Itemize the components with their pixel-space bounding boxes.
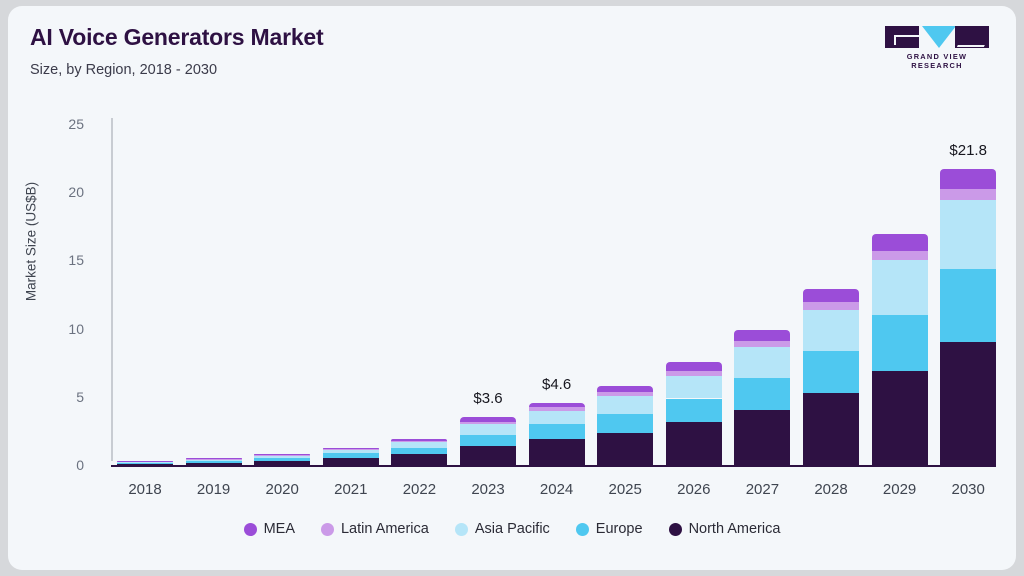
bar-segment-north-america[interactable]	[323, 458, 379, 466]
chart-legend: MEALatin AmericaAsia PacificEuropeNorth …	[8, 521, 1016, 537]
bar-2018[interactable]	[117, 7, 173, 466]
bar-segment-north-america[interactable]	[803, 393, 859, 466]
bar-segment-north-america[interactable]	[666, 422, 722, 466]
bar-segment-europe[interactable]	[734, 378, 790, 410]
bar-segment-europe[interactable]	[254, 458, 310, 461]
bar-2026[interactable]	[666, 7, 722, 466]
legend-item-north-america[interactable]: North America	[669, 521, 781, 537]
legend-swatch-icon	[321, 523, 334, 536]
bar-segment-north-america[interactable]	[872, 371, 928, 466]
legend-label: Asia Pacific	[475, 521, 550, 537]
bar-segment-north-america[interactable]	[460, 446, 516, 466]
legend-item-mea[interactable]: MEA	[244, 521, 295, 537]
bar-segment-mea[interactable]	[940, 169, 996, 189]
legend-swatch-icon	[669, 523, 682, 536]
bar-segment-mea[interactable]	[734, 330, 790, 341]
bar-segment-europe[interactable]	[460, 435, 516, 447]
chart-card: AI Voice Generators Market Size, by Regi…	[8, 6, 1016, 570]
bar-segment-north-america[interactable]	[734, 410, 790, 466]
bar-segment-asia-pacific[interactable]	[529, 411, 585, 425]
bar-segment-mea[interactable]	[254, 454, 310, 456]
bar-segment-latin-america[interactable]	[666, 371, 722, 376]
bar-segment-europe[interactable]	[391, 448, 447, 455]
bar-segment-europe[interactable]	[872, 315, 928, 371]
bar-segment-latin-america[interactable]	[597, 392, 653, 396]
data-label-2030: $21.8	[923, 142, 1013, 159]
legend-swatch-icon	[576, 523, 589, 536]
stacked-bar-chart: Market Size (US$B) 0510152025 2018201920…	[8, 6, 1016, 570]
legend-swatch-icon	[455, 523, 468, 536]
bar-segment-europe[interactable]	[323, 453, 379, 457]
bar-segment-asia-pacific[interactable]	[940, 200, 996, 269]
bar-segment-asia-pacific[interactable]	[323, 450, 379, 454]
bar-2024[interactable]	[529, 7, 585, 466]
bar-segment-north-america[interactable]	[186, 463, 242, 466]
bar-2028[interactable]	[803, 7, 859, 466]
bar-2030[interactable]	[940, 7, 996, 466]
bar-2029[interactable]	[872, 7, 928, 466]
bar-segment-north-america[interactable]	[597, 433, 653, 466]
bar-segment-mea[interactable]	[666, 362, 722, 370]
data-label-2024: $4.6	[512, 376, 602, 393]
legend-label: North America	[689, 521, 781, 537]
bar-2021[interactable]	[323, 7, 379, 466]
bar-segment-mea[interactable]	[323, 448, 379, 450]
bar-segment-north-america[interactable]	[117, 464, 173, 466]
bar-2022[interactable]	[391, 7, 447, 466]
legend-label: Europe	[596, 521, 643, 537]
bar-segment-mea[interactable]	[872, 234, 928, 250]
bar-segment-asia-pacific[interactable]	[460, 424, 516, 434]
bar-segment-mea[interactable]	[391, 439, 447, 441]
bar-2019[interactable]	[186, 7, 242, 466]
bar-segment-europe[interactable]	[597, 414, 653, 433]
bar-segment-asia-pacific[interactable]	[803, 310, 859, 351]
bar-segment-north-america[interactable]	[940, 342, 996, 466]
bar-segment-mea[interactable]	[529, 403, 585, 407]
bar-segment-latin-america[interactable]	[940, 189, 996, 200]
x-axis-tick-2030: 2030	[923, 481, 1013, 498]
bar-2025[interactable]	[597, 7, 653, 466]
bar-segment-asia-pacific[interactable]	[186, 460, 242, 462]
bar-segment-latin-america[interactable]	[460, 422, 516, 425]
bar-segment-asia-pacific[interactable]	[666, 376, 722, 399]
bar-segment-europe[interactable]	[529, 424, 585, 439]
bar-segment-latin-america[interactable]	[734, 341, 790, 348]
legend-label: MEA	[264, 521, 295, 537]
legend-item-europe[interactable]: Europe	[576, 521, 643, 537]
bar-segment-europe[interactable]	[940, 269, 996, 342]
bar-segment-latin-america[interactable]	[803, 302, 859, 310]
bar-segment-north-america[interactable]	[254, 461, 310, 466]
legend-label: Latin America	[341, 521, 429, 537]
bar-segment-mea[interactable]	[597, 386, 653, 392]
legend-item-asia-pacific[interactable]: Asia Pacific	[455, 521, 550, 537]
bar-segment-north-america[interactable]	[391, 454, 447, 466]
legend-swatch-icon	[244, 523, 257, 536]
bar-segment-mea[interactable]	[803, 289, 859, 302]
bar-segment-asia-pacific[interactable]	[391, 442, 447, 448]
legend-item-latin-america[interactable]: Latin America	[321, 521, 429, 537]
bar-2027[interactable]	[734, 7, 790, 466]
bar-segment-europe[interactable]	[803, 351, 859, 393]
bar-segment-europe[interactable]	[666, 399, 722, 423]
bar-segment-north-america[interactable]	[529, 439, 585, 466]
bar-segment-asia-pacific[interactable]	[872, 260, 928, 315]
bar-segment-europe[interactable]	[186, 461, 242, 463]
bar-segment-latin-america[interactable]	[529, 407, 585, 410]
bar-segment-asia-pacific[interactable]	[597, 396, 653, 414]
bar-segment-mea[interactable]	[460, 417, 516, 422]
bar-segment-mea[interactable]	[117, 461, 173, 463]
bar-segment-asia-pacific[interactable]	[734, 347, 790, 378]
bar-2020[interactable]	[254, 7, 310, 466]
bar-segment-latin-america[interactable]	[872, 251, 928, 261]
bar-segment-asia-pacific[interactable]	[254, 456, 310, 458]
